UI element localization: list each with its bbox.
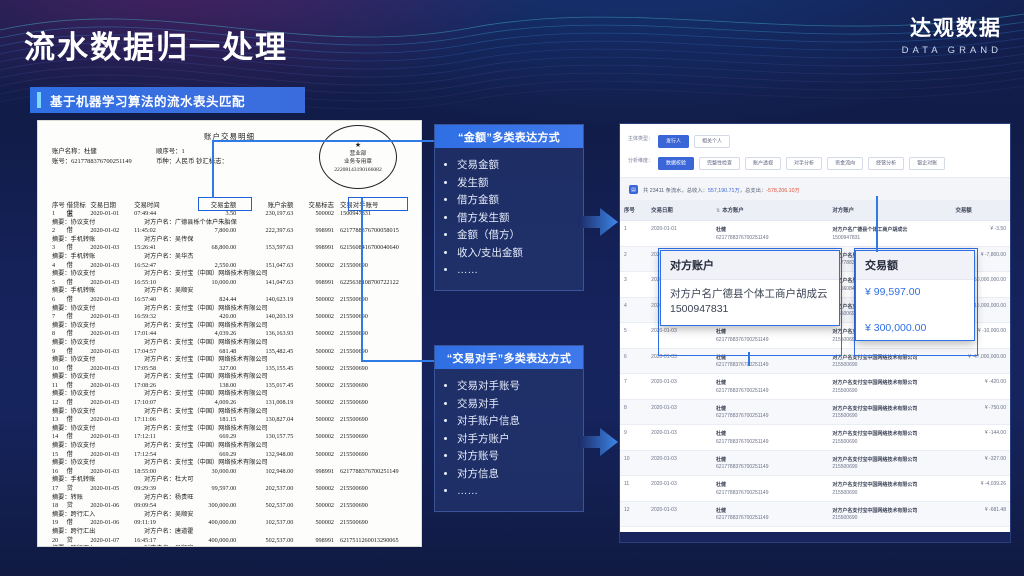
- seal-line-1: 营业部: [350, 150, 367, 158]
- app-summary-bar: ▤ 共 23411 条流水，总收入： 557,190.71万 ，总支出： -57…: [620, 178, 1010, 200]
- filter-chip[interactable]: 相关个人: [694, 135, 730, 148]
- cell-counterparty-account: 对方户名支付宝中国网络技术有限公司215500690: [828, 374, 951, 400]
- cell-own-account: 杜健6217788376700251149: [712, 399, 828, 425]
- statement-row: 3借2020-01-0315:26:4168,800.00153,597.639…: [52, 244, 413, 253]
- cell-own-account: 杜健6217788376700251149: [712, 476, 828, 502]
- logo-text-en: DATA GRAND: [902, 45, 1002, 56]
- filter-chip[interactable]: 银企对账: [909, 157, 945, 170]
- statement-summary-row: 摘要：协议支付对方户名：支付宝（中国）网络技术有限公司: [52, 408, 413, 417]
- statement-summary-row: 摘要：协议支付对方户名：支付宝（中国）网络技术有限公司: [52, 322, 413, 331]
- filter-chip[interactable]: 经营分析: [868, 157, 904, 170]
- cell-counterparty-account: 对方户名广德县个体工商户胡成云1500947831: [828, 221, 951, 247]
- highlight-amount-header: [198, 197, 252, 211]
- cell-counterparty-account: 对方户名支付宝中国网络技术有限公司215500690: [828, 399, 951, 425]
- statement-summary-row: 摘要：手机转账对方户名：吴华杰: [52, 253, 413, 262]
- cell-date: 2020-01-03: [647, 374, 712, 400]
- cell-date: 2020-01-03: [647, 476, 712, 502]
- cell-own-account: 杜健6217788376700251149: [712, 221, 828, 247]
- statement-account-number: 账号：6217788376700251149: [52, 157, 132, 167]
- statement-row: 5借2020-01-0316:55:1010,000.00141,047.639…: [52, 279, 413, 288]
- cell-no: 12: [620, 501, 647, 527]
- official-seal-stamp: ★ 营业部 业务专用章 22208143190166082: [319, 125, 397, 189]
- cell-no: 7: [620, 374, 647, 400]
- cell-amount: ¥ -750.00: [951, 399, 1010, 425]
- seal-star-icon: ★: [355, 141, 361, 149]
- app-footer-bar: [620, 532, 1010, 542]
- section-subtitle-text: 基于机器学习算法的流水表头匹配: [50, 91, 245, 110]
- callout-amount: 交易额 ¥ 99,597.00 ¥ 300,000.00: [855, 250, 975, 341]
- statement-row: 2借2020-01-0211:45:027,800.00222,397.6399…: [52, 227, 413, 236]
- page-title: 流水数据归一处理: [24, 22, 288, 67]
- cell-no: 1: [620, 221, 647, 247]
- connector-amount-vertical: [212, 140, 214, 198]
- summary-income-value: 557,190.71万: [708, 186, 740, 194]
- statement-row: 12借2020-01-0317:10:074,009.26131,008.195…: [52, 399, 413, 408]
- cell-no: 10: [620, 450, 647, 476]
- callout-counterparty-number: 1500947831: [670, 302, 830, 317]
- panel-counterparty-expressions: “交易对手”多类表达方式 交易对手账号交易对手对手账户信息对手方账户对方账号对方…: [434, 345, 584, 512]
- statement-meta-left: 账户名称：杜健 账号：6217788376700251149: [52, 147, 132, 167]
- panel-amount-title: “金额”多类表达方式: [435, 125, 583, 148]
- filter-row-subject: 主体类型： 发行人相关个人: [628, 129, 1002, 147]
- logo-text-cn: 达观数据: [902, 12, 1002, 42]
- cell-no: 3: [620, 272, 647, 298]
- cell-date: 2020-01-03: [647, 425, 712, 451]
- table-row[interactable]: 12020-01-01杜健6217788376700251149对方户名广德县个…: [620, 221, 1010, 247]
- statement-summary-row: 摘要：跨行汇入对方户名：吴顺安: [52, 511, 413, 520]
- cell-counterparty-account: 对方户名支付宝中国网络技术有限公司215500690: [828, 425, 951, 451]
- callout-amount-title: 交易额: [856, 251, 974, 280]
- statement-row: 6借2020-01-0316:57:40824.44140,623.195000…: [52, 296, 413, 305]
- statement-seq: 顺序号：1: [156, 147, 228, 157]
- cell-date: 2020-01-03: [647, 450, 712, 476]
- panel-list-item: 交易对手账号: [457, 378, 575, 396]
- panel-list-item: 对手账户信息: [457, 413, 575, 431]
- cell-date: 2020-01-01: [647, 221, 712, 247]
- statement-row: 16借2020-01-0318:55:0030,000.00102,948.00…: [52, 468, 413, 477]
- summary-prefix: 共 23411 条流水，总收入：: [643, 186, 708, 194]
- scanned-statement-image: 账户交易明细 账户名称：杜健 账号：6217788376700251149 顺序…: [38, 121, 421, 546]
- panel-list-item: 交易金额: [457, 157, 575, 175]
- statement-row: 4借2020-01-0316:52:472,550.00151,047.6350…: [52, 262, 413, 271]
- sort-icon[interactable]: ⇅: [716, 208, 720, 214]
- cell-no: 6: [620, 348, 647, 374]
- panel-list-item: 对方信息: [457, 466, 575, 484]
- statement-summary-row: 摘要：协议支付对方户名：支付宝（中国）网络技术有限公司: [52, 442, 413, 451]
- panel-list-item: 发生额: [457, 175, 575, 193]
- cell-date: 2020-01-03: [647, 399, 712, 425]
- app-filter-bar: 主体类型： 发行人相关个人 分析维度： 数据校验完整性检查账户透视对手分析资金流…: [620, 124, 1010, 178]
- th-own-account[interactable]: ⇅本方账户: [712, 200, 828, 221]
- statement-row: 10借2020-01-0317:05:58327.00135,155.45500…: [52, 365, 413, 374]
- cell-counterparty-account: 对方户名支付宝中国网络技术有限公司215500690: [828, 501, 951, 527]
- statement-summary-row: 摘要：协议支付对方户名：支付宝（中国）网络技术有限公司: [52, 356, 413, 365]
- th-counterparty-account: 对方账户: [828, 200, 951, 221]
- panel-list-item: 借方金额: [457, 192, 575, 210]
- cell-own-account: 杜健6217788376700251149: [712, 501, 828, 527]
- statement-summary-row: 摘要：手机转账对方户名：杜大可: [52, 476, 413, 485]
- statement-row: 13借2020-01-0317:11:06181.15130,827.04500…: [52, 416, 413, 425]
- panel-list-item: ……: [457, 483, 575, 501]
- statement-row: 9借2020-01-0317:04:57681.48135,482.455000…: [52, 348, 413, 357]
- table-row[interactable]: 112020-01-03杜健6217788376700251149对方户名支付宝…: [620, 476, 1010, 502]
- section-subtitle-chip: 基于机器学习算法的流水表头匹配: [30, 87, 305, 113]
- statement-summary-row: 摘要：协议支付对方户名：支付宝（中国）网络技术有限公司: [52, 270, 413, 279]
- panel-list-item: 借方发生额: [457, 210, 575, 228]
- statement-summary-row: 摘要：转账对方户名：杨贵旺: [52, 494, 413, 503]
- statement-currency: 币种：人民币 钞汇标志：: [156, 157, 228, 167]
- statement-summary-row: 摘要：协议支付对方户名：广德县栎个体户朱胎保: [52, 219, 413, 228]
- panel-list-item: 对手方账户: [457, 431, 575, 449]
- filter-label-subject: 主体类型：: [628, 135, 658, 142]
- cell-amount: ¥ -681.48: [951, 501, 1010, 527]
- connector-amount-horizontal: [212, 140, 434, 142]
- callout-counterparty-body: 对方户名广德县个体工商户胡成云 1500947831: [661, 280, 839, 325]
- panel-list-item: 交易对手: [457, 396, 575, 414]
- cell-counterparty-account: 对方户名支付宝中国网络技术有限公司215500690: [828, 450, 951, 476]
- statement-row: 19借2020-01-0609:11:19400,000.00102,537.0…: [52, 519, 413, 528]
- table-row[interactable]: 92020-01-03杜健6217788376700251149对方户名支付宝中…: [620, 425, 1010, 451]
- callout-counterparty-name: 对方户名广德县个体工商户胡成云: [670, 287, 830, 302]
- arrow-right-amount-icon: [578, 205, 618, 239]
- statement-summary-row: 摘要：协议支付对方户名：支付宝（中国）网络技术有限公司: [52, 305, 413, 314]
- callout-amount-value-2: ¥ 300,000.00: [856, 304, 974, 340]
- highlight-counterparty-header: [348, 197, 408, 211]
- panel-list-item: 金额（借方）: [457, 227, 575, 245]
- cell-amount: ¥ -144.00: [951, 425, 1010, 451]
- cell-no: 8: [620, 399, 647, 425]
- panel-list-item: 对方账号: [457, 448, 575, 466]
- th-date: 交易日期: [647, 200, 712, 221]
- filter-label-dimension: 分析维度：: [628, 157, 658, 164]
- callout-counterparty-account: 对方账户 对方户名广德县个体工商户胡成云 1500947831: [660, 250, 840, 326]
- panel-amount-expressions: “金额”多类表达方式 交易金额发生额借方金额借方发生额金额（借方）收入/支出金额…: [434, 124, 584, 291]
- arrow-right-party-icon: [578, 425, 618, 459]
- connector-party-vertical: [361, 198, 363, 361]
- filter-chip[interactable]: 对手分析: [786, 157, 822, 170]
- panel-amount-body: 交易金额发生额借方金额借方发生额金额（借方）收入/支出金额……: [435, 148, 583, 290]
- cell-own-account: 杜健6217788376700251149: [712, 425, 828, 451]
- cell-amount: ¥ -327.00: [951, 450, 1010, 476]
- brand-logo: 达观数据 DATA GRAND: [902, 12, 1002, 56]
- cell-no: 9: [620, 425, 647, 451]
- panel-list-item: 收入/支出金额: [457, 245, 575, 263]
- statement-summary-row: 摘要：协议支付对方户名：支付宝（中国）网络技术有限公司: [52, 459, 413, 468]
- cell-no: 11: [620, 476, 647, 502]
- panel-counterparty-title: “交易对手”多类表达方式: [435, 346, 583, 369]
- filter-chip[interactable]: 数据校验: [658, 157, 694, 170]
- table-row[interactable]: 82020-01-03杜健6217788376700251149对方户名支付宝中…: [620, 399, 1010, 425]
- cell-amount: ¥ -4,039.26: [951, 476, 1010, 502]
- seal-line-2: 业务专用章: [344, 158, 372, 166]
- statement-row: 20贷2020-01-0716:45:17400,000.00502,537.0…: [52, 537, 413, 546]
- cell-own-account: 杜健6217788376700251149: [712, 450, 828, 476]
- calendar-icon: ▤: [629, 185, 638, 194]
- table-row[interactable]: 102020-01-03杜健6217788376700251149对方户名支付宝…: [620, 450, 1010, 476]
- cell-own-account: 杜健6217788376700251149: [712, 374, 828, 400]
- statement-rows: 1借2020-01-0107:49:443.50230,197.63500002…: [52, 210, 413, 546]
- callout-counterparty-title: 对方账户: [661, 251, 839, 280]
- table-header-row: 序号 交易日期 ⇅本方账户 对方账户 交易额: [620, 200, 1010, 221]
- callout-amount-pointer: [876, 196, 878, 252]
- cell-no: 4: [620, 297, 647, 323]
- statement-summary-row: 摘要：跨行汇入对方户名：吴顺安: [52, 545, 413, 546]
- statement-summary-row: 摘要：协议支付对方户名：支付宝（中国）网络技术有限公司: [52, 339, 413, 348]
- statement-row: 8借2020-01-0317:01:444,039.26136,163.9350…: [52, 330, 413, 339]
- statement-row: 14借2020-01-0317:12:11669.29130,157.75500…: [52, 433, 413, 442]
- callout-party-pointer: [748, 352, 750, 366]
- statement-row: 18贷2020-01-0609:09:54300,000.00502,537.0…: [52, 502, 413, 511]
- statement-summary-row: 摘要：协议支付对方户名：支付宝（中国）网络技术有限公司: [52, 425, 413, 434]
- summary-middle: ，总支出：: [740, 186, 767, 194]
- cell-date: 2020-01-03: [647, 501, 712, 527]
- filter-chip[interactable]: 完整性检查: [699, 157, 740, 170]
- seal-line-3: 22208143190166082: [334, 166, 382, 174]
- statement-row: 15借2020-01-0317:12:54669.29132,948.00500…: [52, 451, 413, 460]
- cell-no: 5: [620, 323, 647, 349]
- slide-root: 流水数据归一处理 达观数据 DATA GRAND 基于机器学习算法的流水表头匹配…: [0, 0, 1024, 576]
- table-row[interactable]: 72020-01-03杜健6217788376700251149对方户名支付宝中…: [620, 374, 1010, 400]
- statement-summary-row: 摘要：协议支付对方户名：支付宝（中国）网络技术有限公司: [52, 390, 413, 399]
- statement-summary-row: 摘要：手机转账对方户名：吴传保: [52, 236, 413, 245]
- filter-chip[interactable]: 发行人: [658, 135, 689, 148]
- cell-no: 2: [620, 246, 647, 272]
- statement-row: 17贷2020-01-0509:29:3999,597.00202,537.00…: [52, 485, 413, 494]
- panel-counterparty-body: 交易对手账号交易对手对手账户信息对手方账户对方账号对方信息……: [435, 369, 583, 511]
- statement-summary-row: 摘要：协议支付对方户名：支付宝（中国）网络技术有限公司: [52, 373, 413, 382]
- filter-chip[interactable]: 账户透视: [745, 157, 781, 170]
- statement-meta-right: 顺序号：1 币种：人民币 钞汇标志：: [156, 147, 228, 167]
- statement-row: 1借2020-01-0107:49:443.50230,197.63500002…: [52, 210, 413, 219]
- table-row[interactable]: 122020-01-03杜健6217788376700251149对方户名支付宝…: [620, 501, 1010, 527]
- summary-expense-value: -578,206.10万: [766, 186, 800, 194]
- th-amount: 交易额: [951, 200, 1010, 221]
- cell-amount: ¥ -420.00: [951, 374, 1010, 400]
- cell-counterparty-account: 对方户名支付宝中国网络技术有限公司215500690: [828, 476, 951, 502]
- panel-list-item: ……: [457, 262, 575, 280]
- callout-amount-value-1: ¥ 99,597.00: [856, 280, 974, 304]
- statement-summary-row: 摘要：跨行汇出对方户名：唐道霍: [52, 528, 413, 537]
- filter-chip[interactable]: 资金流向: [827, 157, 863, 170]
- statement-summary-row: 摘要：手机转账对方户名：吴顺安: [52, 287, 413, 296]
- statement-row: 7借2020-01-0316:59:32420.00140,203.195000…: [52, 313, 413, 322]
- cell-amount: ¥ -3.50: [951, 221, 1010, 247]
- statement-account-name: 账户名称：杜健: [52, 147, 132, 157]
- accent-bar: [37, 92, 41, 108]
- th-no: 序号: [620, 200, 647, 221]
- filter-row-dimension: 分析维度： 数据校验完整性检查账户透视对手分析资金流向经营分析银企对账: [628, 151, 1002, 169]
- connector-party-horizontal: [361, 360, 434, 362]
